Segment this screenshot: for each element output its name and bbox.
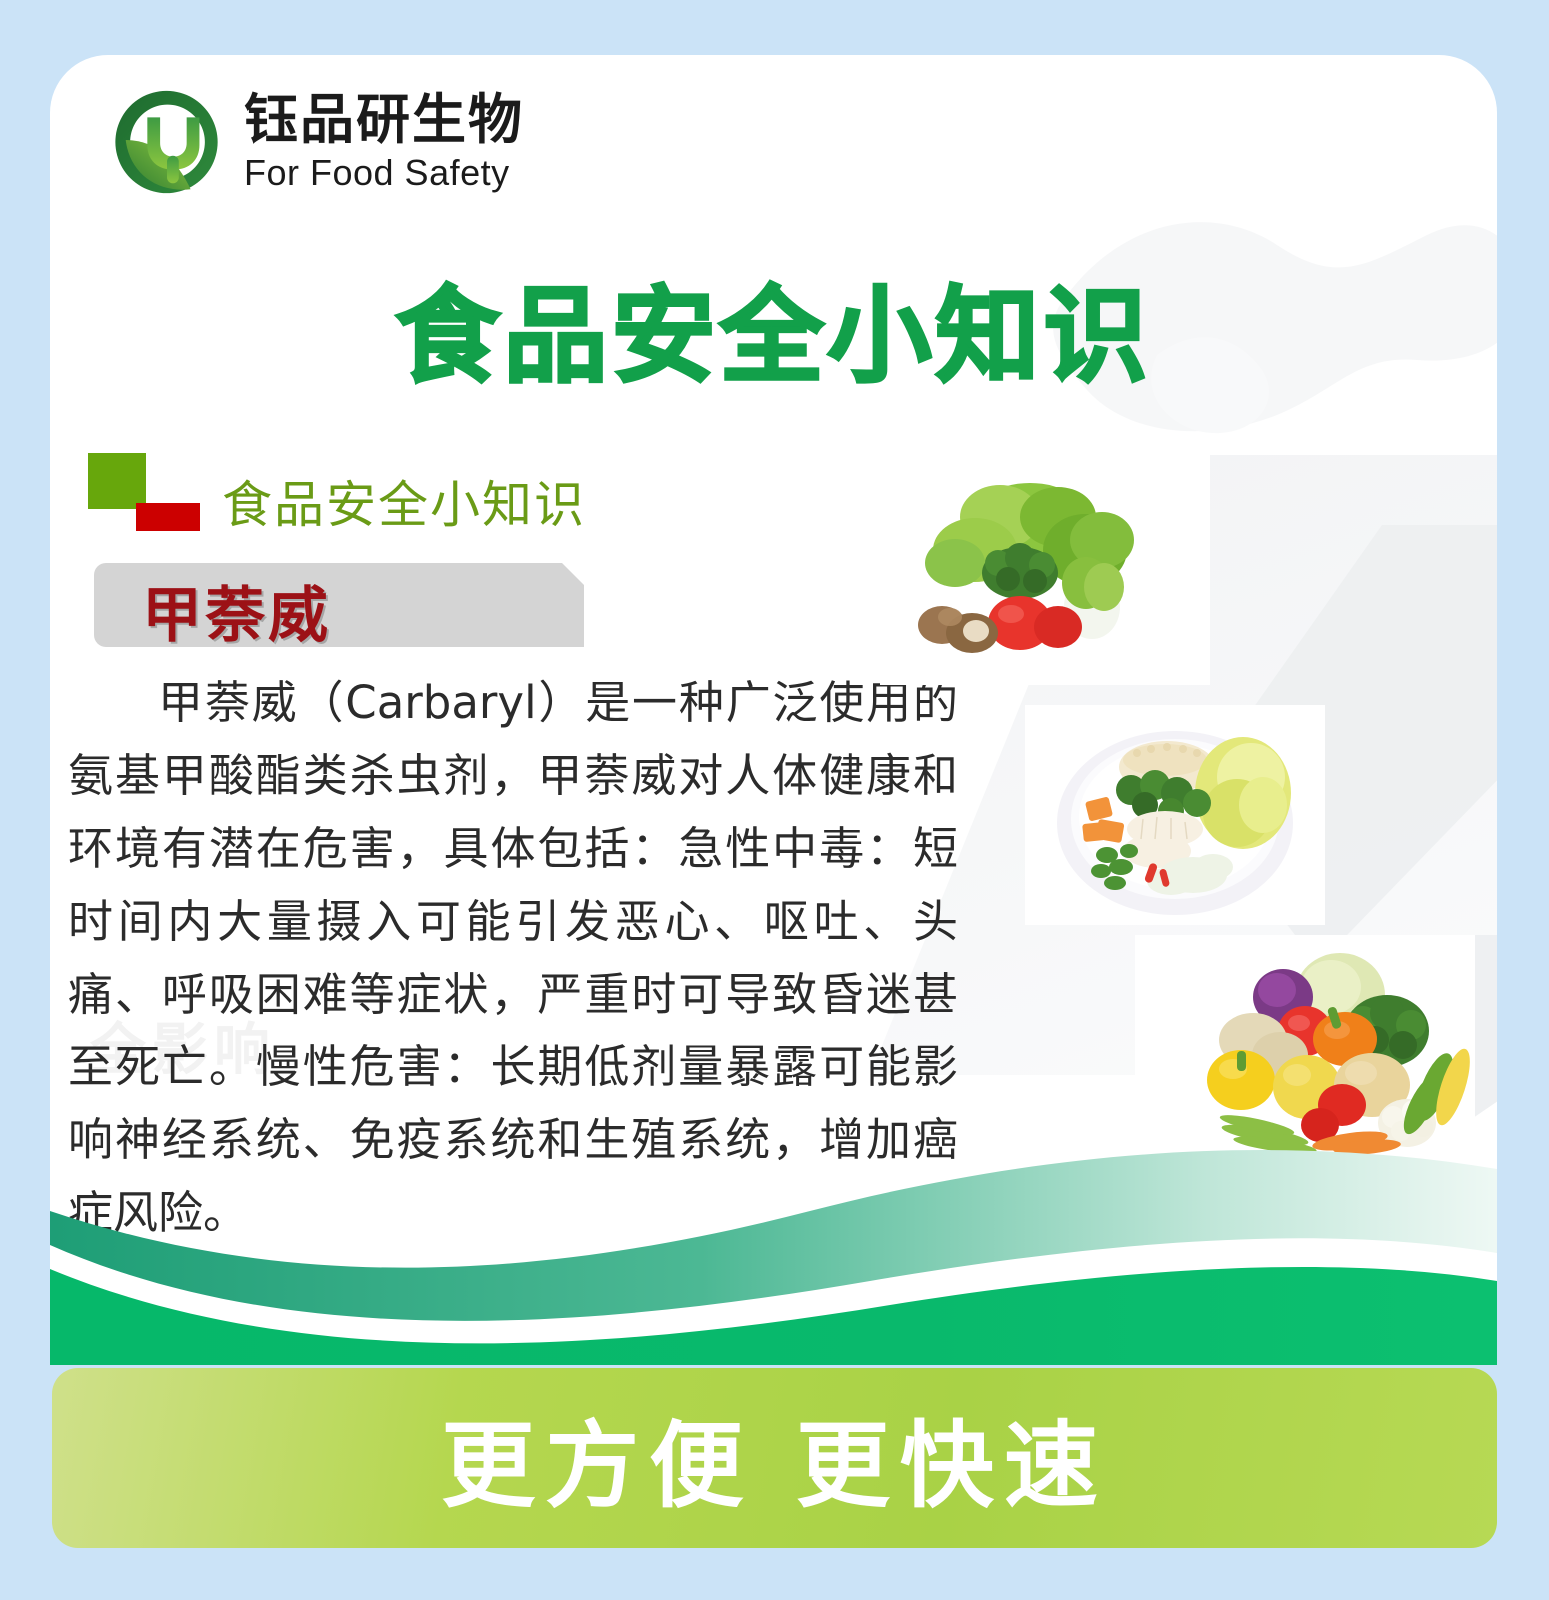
green-wave-decoration — [50, 1115, 1497, 1365]
brand-logo: 钰品研生物 For Food Safety — [108, 83, 524, 201]
fresh-green-vegetables-photo — [880, 455, 1210, 685]
poster-root: 20年专注食品安全 — [0, 0, 1549, 1600]
logo-tagline-en: For Food Safety — [244, 155, 524, 191]
content-card: 钰品研生物 For Food Safety 食品安全小知识 食品安全小知识 甲萘… — [50, 55, 1497, 1365]
logo-company-name: 钰品研生物 — [244, 93, 524, 147]
leaf-circle-logo-icon — [108, 83, 226, 201]
red-square-icon — [136, 503, 200, 531]
section-heading: 食品安全小知识 — [222, 465, 586, 537]
green-square-icon — [88, 453, 146, 509]
section-marker-icon — [88, 453, 200, 529]
slogan-banner: 更方便 更快速 — [52, 1368, 1497, 1548]
compound-name: 甲萘威 — [142, 567, 331, 654]
hotpot-vegetable-plate-photo — [1025, 705, 1325, 925]
slogan-text: 更方便 更快速 — [441, 1390, 1108, 1526]
page-title: 食品安全小知识 — [50, 251, 1497, 402]
